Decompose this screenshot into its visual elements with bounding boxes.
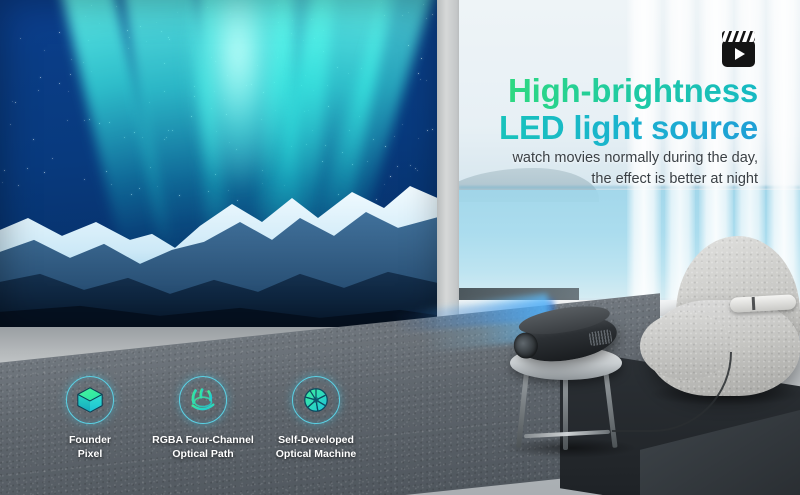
headline-line-2: LED light source [499,109,758,146]
cube-icon [66,376,114,424]
clapperboard-play-icon [722,31,755,67]
feature-label-line-1: Founder [38,433,142,447]
aperture-icon [292,376,340,424]
play-triangle-icon [735,48,745,60]
subtitle: watch movies normally during the day, th… [512,148,758,190]
headline-line-1: High-brightness [499,72,758,109]
feature-list: Founder Pixel [38,376,368,488]
clapperboard-top-bar [722,31,755,42]
table-leg [563,376,568,450]
feature-label: RGBA Four-Channel Optical Path [151,433,255,462]
feature-item-founder-pixel: Founder Pixel [38,376,142,462]
feature-label: Self-Developed Optical Machine [264,433,368,462]
feature-label-line-2: Optical Machine [264,447,368,461]
rgba-path-icon [179,376,227,424]
projection-screen [0,0,442,330]
subtitle-line-1: watch movies normally during the day, [512,148,758,169]
cushion-stripe [752,297,756,310]
feature-label-line-1: RGBA Four-Channel [151,433,255,447]
feature-label-line-2: Pixel [38,447,142,461]
page-title: High-brightness LED light source [499,72,758,147]
feature-label-line-2: Optical Path [151,447,255,461]
product-banner: High-brightness LED light source watch m… [0,0,800,495]
subtitle-line-2: the effect is better at night [512,169,758,190]
feature-item-rgba-optical-path: RGBA Four-Channel Optical Path [151,376,255,462]
mountain-range [0,178,442,330]
feature-label-line-1: Self-Developed [264,433,368,447]
feature-item-optical-machine: Self-Developed Optical Machine [264,376,368,462]
feature-label: Founder Pixel [38,433,142,462]
